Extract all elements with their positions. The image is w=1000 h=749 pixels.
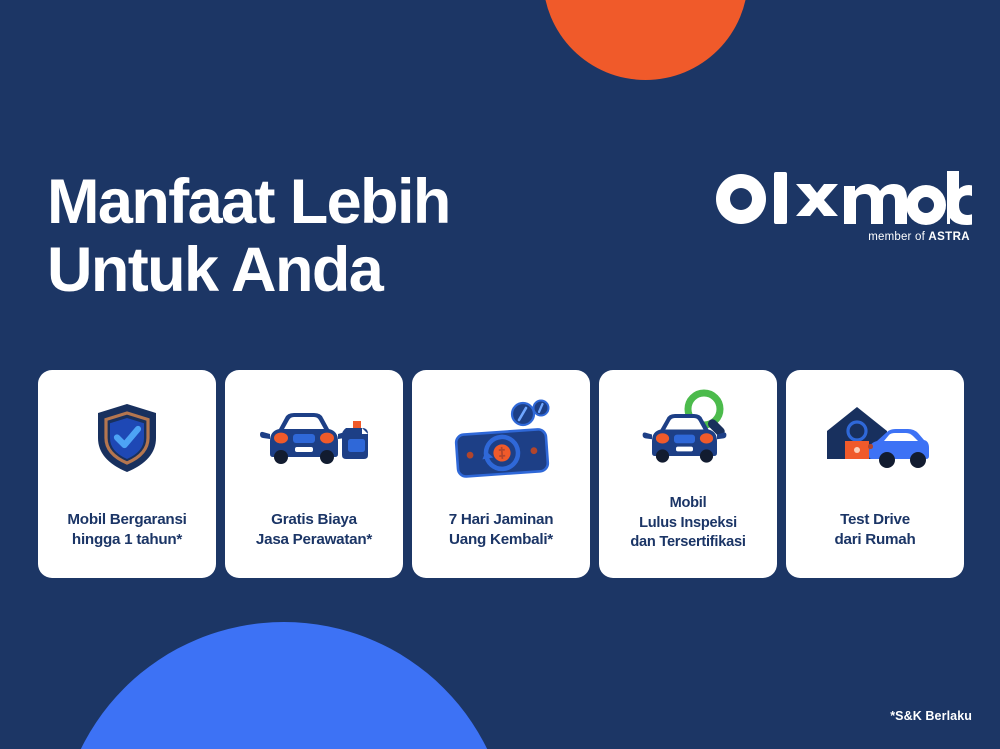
benefit-card-free-service[interactable]: Gratis Biaya Jasa Perawatan* [225,370,403,578]
benefit-card-home-test-drive[interactable]: Test Drive dari Rumah [786,370,964,578]
car-inspection-magnifier-icon [640,388,736,472]
logo-sub-brand: ASTRA [928,231,970,243]
benefit-card-label: 7 Hari Jaminan Uang Kembali* [449,510,554,550]
benefit-card-label: Mobil Lulus Inspeksi dan Tersertifikasi [630,494,745,552]
blue-circle-decoration [58,622,510,749]
benefit-card-warranty[interactable]: Mobil Bergaransi hingga 1 tahun* [38,370,216,578]
money-refund-icon [449,392,553,484]
page-title: Manfaat Lebih Untuk Anda [47,168,450,304]
benefit-card-label: Mobil Bergaransi hingga 1 tahun* [67,510,186,550]
benefit-card-inspection[interactable]: Mobil Lulus Inspeksi dan Tersertifikasi [599,370,777,578]
terms-footnote: *S&K Berlaku [890,709,972,723]
logo-sub-prefix: member of [868,231,928,243]
logo-subtitle: member of ASTRA [714,231,970,243]
olx-mobbi-logotype-icon [714,170,972,226]
benefits-card-row: Mobil Bergaransi hingga 1 tahun* [38,370,964,578]
home-test-drive-icon [819,392,931,484]
olx-mobbi-logo: member of ASTRA [714,172,972,243]
car-oil-bottle-icon [258,392,370,484]
orange-circle-decoration [543,0,748,80]
logo-wordmark [714,172,972,224]
promo-banner: Manfaat Lebih Untuk Anda member of ASTRA [0,0,1000,749]
shield-check-icon [94,392,160,484]
benefit-card-label: Test Drive dari Rumah [834,510,915,550]
benefit-card-money-back[interactable]: 7 Hari Jaminan Uang Kembali* [412,370,590,578]
benefit-card-label: Gratis Biaya Jasa Perawatan* [256,510,372,550]
